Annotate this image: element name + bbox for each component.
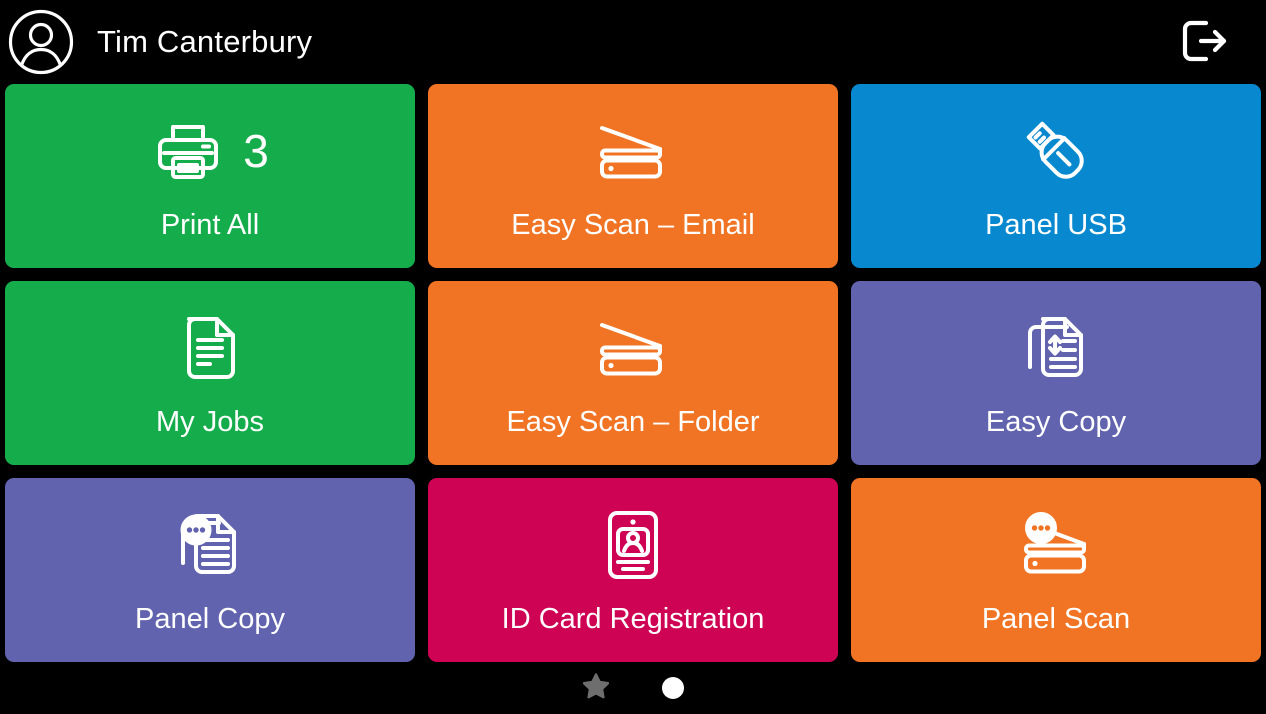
tile-icon-area [851,281,1261,408]
tile-print-all[interactable]: 3 Print All [5,84,415,268]
tile-icon-row [604,508,662,582]
tile-icon-area [851,84,1261,211]
scanner-icon [594,116,672,186]
tile-my-jobs[interactable]: My Jobs [5,281,415,465]
tile-label: Panel USB [985,211,1127,268]
tile-icon-row [1019,114,1093,188]
tile-label: Easy Scan – Folder [506,408,759,465]
tile-grid: 3 Print All [0,84,1266,662]
tile-icon-row [1019,311,1093,385]
tile-id-card-registration[interactable]: ID Card Registration [428,478,838,662]
tile-label: My Jobs [156,408,264,465]
document-icon [177,311,243,385]
copy-documents-icon [1019,311,1093,385]
tile-icon-area [428,478,838,605]
tile-panel-scan[interactable]: Panel Scan [851,478,1261,662]
logout-button[interactable] [1168,11,1230,73]
tile-icon-row [177,311,243,385]
user-avatar-icon [8,9,74,75]
tile-icon-area [5,478,415,605]
tile-easy-copy[interactable]: Easy Copy [851,281,1261,465]
tile-panel-usb[interactable]: Panel USB [851,84,1261,268]
usb-drive-icon [1019,114,1093,188]
logout-icon [1168,10,1230,75]
header-bar: Tim Canterbury [0,0,1266,84]
tile-icon-area [428,281,838,408]
tile-icon-row: 3 [151,114,269,188]
pager-bar [0,662,1266,714]
tile-easy-scan-email[interactable]: Easy Scan – Email [428,84,838,268]
tile-icon-area [851,478,1261,605]
print-job-count-badge: 3 [243,128,269,174]
tile-easy-scan-folder[interactable]: Easy Scan – Folder [428,281,838,465]
tile-label: Panel Copy [135,605,285,662]
home-screen: Tim Canterbury [0,0,1266,714]
tile-icon-row [173,508,247,582]
tile-label: Easy Copy [986,408,1126,465]
tile-icon-row [594,313,672,383]
tile-icon-area: 3 [5,84,415,211]
panel-scan-icon [1016,508,1096,582]
printer-icon [151,114,225,188]
tile-icon-row [1016,508,1096,582]
tile-panel-copy[interactable]: Panel Copy [5,478,415,662]
tile-label: Print All [161,211,259,268]
id-card-icon [604,508,662,582]
tile-label: Panel Scan [982,605,1130,662]
tile-label: ID Card Registration [502,605,765,662]
tile-icon-area [5,281,415,408]
scanner-icon [594,313,672,383]
star-icon[interactable] [583,673,609,704]
page-dot-active[interactable] [662,677,684,699]
panel-copy-icon [173,508,247,582]
tile-icon-row [594,116,672,186]
tile-label: Easy Scan – Email [511,211,754,268]
user-name-label: Tim Canterbury [97,24,312,60]
tile-icon-area [428,84,838,211]
